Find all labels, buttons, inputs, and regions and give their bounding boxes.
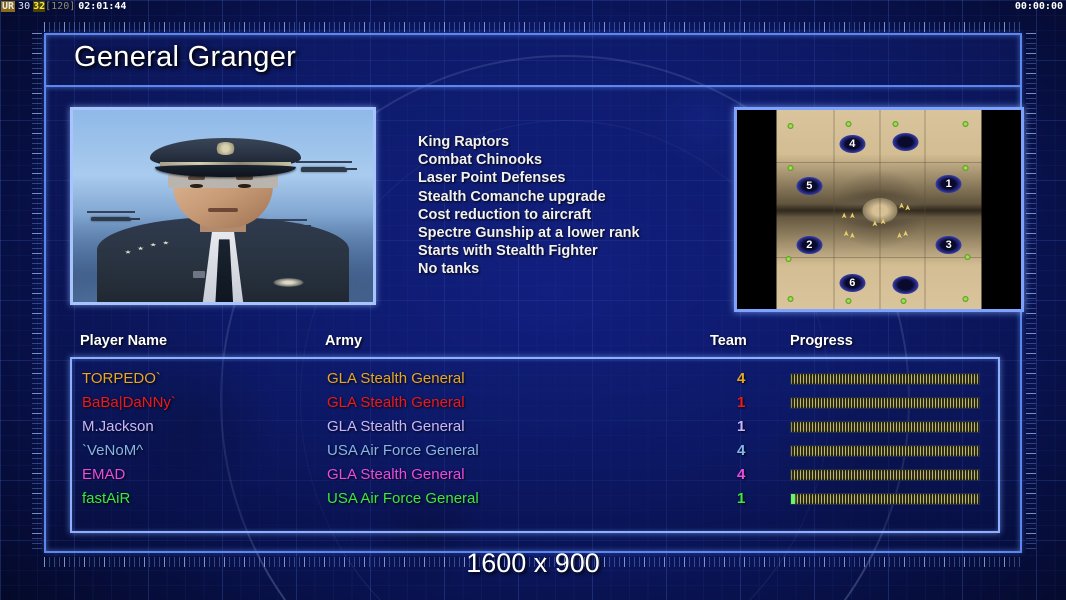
table-row: BaBa|DaNNy`GLA Stealth General1	[72, 391, 998, 415]
progress-fill	[791, 446, 979, 456]
players-table-header: Player Name Army Team Progress	[70, 333, 1000, 355]
player-name: BaBa|DaNNy`	[82, 391, 176, 415]
player-army: GLA Stealth General	[327, 367, 465, 391]
player-progress-bar	[790, 493, 980, 505]
ability-item: Stealth Comanche upgrade	[418, 188, 718, 206]
player-progress-bar	[790, 373, 980, 385]
table-row: M.JacksonGLA Stealth General1	[72, 415, 998, 439]
minimap-start-position[interactable]	[893, 276, 919, 294]
ruler-right	[1026, 33, 1036, 553]
player-team: 4	[737, 367, 745, 391]
player-team: 4	[737, 463, 745, 487]
table-row: `VeNoM^USA Air Force General4	[72, 439, 998, 463]
column-header-team: Team	[710, 333, 747, 349]
status-value-1: 30	[18, 1, 30, 12]
progress-fill	[791, 494, 979, 504]
minimap-start-position[interactable]: 2	[796, 236, 822, 254]
player-name: TORPEDO`	[82, 367, 161, 391]
table-row: fastAiRUSA Air Force General1	[72, 487, 998, 511]
column-header-progress: Progress	[790, 333, 853, 349]
minimap-tree-icon	[892, 121, 898, 127]
game-loading-screen: UR3032[120]02:01:44 00:00:00 General Gra…	[0, 0, 1066, 600]
main-panel: General Granger	[44, 33, 1022, 553]
minimap-preview: 451236	[734, 107, 1024, 312]
status-bar: UR3032[120]02:01:44 00:00:00	[0, 0, 1066, 14]
ability-item: No tanks	[418, 260, 718, 278]
progress-leading-marker	[791, 494, 795, 504]
player-name: `VeNoM^	[82, 439, 143, 463]
status-bar-left: UR3032[120]02:01:44	[1, 0, 126, 14]
general-abilities-list: King Raptors Combat Chinooks Laser Point…	[418, 133, 718, 279]
table-row: TORPEDO`GLA Stealth General4	[72, 367, 998, 391]
minimap-tree-icon	[964, 254, 970, 260]
player-team: 1	[737, 415, 745, 439]
minimap-start-position[interactable]: 4	[839, 135, 865, 153]
player-name: fastAiR	[82, 487, 130, 511]
minimap-tree-icon	[788, 165, 794, 171]
column-header-player-name: Player Name	[80, 333, 167, 349]
minimap-tree-icon	[845, 121, 851, 127]
minimap-tree-icon	[788, 123, 794, 129]
uniform-badge-icon	[193, 271, 206, 278]
minimap-start-position[interactable]: 3	[936, 236, 962, 254]
table-row: EMADGLA Stealth General4	[72, 463, 998, 487]
minimap-tree-icon	[788, 296, 794, 302]
player-army: GLA Stealth General	[327, 415, 465, 439]
player-progress-bar	[790, 397, 980, 409]
resolution-label: 1600 x 900	[0, 548, 1066, 579]
status-clock: 02:01:44	[78, 1, 126, 12]
minimap-tree-icon	[962, 165, 968, 171]
players-list: TORPEDO`GLA Stealth General4BaBa|DaNNy`G…	[70, 357, 1000, 533]
player-team: 1	[737, 391, 745, 415]
progress-fill	[791, 374, 979, 384]
minimap-terrain: 451236	[777, 110, 982, 309]
minimap-tree-icon	[786, 256, 792, 262]
progress-fill	[791, 398, 979, 408]
status-value-3: [120]	[45, 1, 75, 12]
players-panel: Player Name Army Team Progress TORPEDO`G…	[70, 333, 1000, 533]
ruler-left	[32, 33, 42, 553]
status-value-2: 32	[33, 1, 45, 12]
minimap-tree-icon	[962, 296, 968, 302]
minimap-tree-icon	[901, 298, 907, 304]
general-info-panel: King Raptors Combat Chinooks Laser Point…	[70, 107, 1000, 317]
minimap-tree-icon	[845, 298, 851, 304]
progress-fill	[791, 422, 979, 432]
player-team: 1	[737, 487, 745, 511]
general-figure	[97, 118, 349, 302]
ability-item: Spectre Gunship at a lower rank	[418, 224, 718, 242]
player-progress-bar	[790, 421, 980, 433]
player-team: 4	[737, 439, 745, 463]
ability-item: Combat Chinooks	[418, 151, 718, 169]
player-name: M.Jackson	[82, 415, 154, 439]
player-army: USA Air Force General	[327, 439, 479, 463]
general-portrait	[70, 107, 376, 305]
minimap-start-position[interactable]: 6	[839, 274, 865, 292]
cap-emblem-icon	[215, 142, 235, 155]
column-header-army: Army	[325, 333, 362, 349]
minimap-start-position[interactable]	[893, 133, 919, 151]
player-army: GLA Stealth General	[327, 391, 465, 415]
player-army: USA Air Force General	[327, 487, 479, 511]
page-title: General Granger	[74, 41, 296, 74]
player-name: EMAD	[82, 463, 125, 487]
title-block: General Granger	[46, 35, 1020, 87]
minimap-tree-icon	[962, 121, 968, 127]
ability-item: Starts with Stealth Fighter	[418, 242, 718, 260]
ability-item: Laser Point Defenses	[418, 169, 718, 187]
minimap-start-position[interactable]: 1	[936, 175, 962, 193]
player-progress-bar	[790, 469, 980, 481]
status-label: UR	[1, 1, 15, 12]
status-right-timer: 00:00:00	[1015, 0, 1063, 14]
minimap-start-position[interactable]: 5	[796, 177, 822, 195]
ruler-top	[44, 22, 1022, 32]
player-progress-bar	[790, 445, 980, 457]
ability-item: Cost reduction to aircraft	[418, 206, 718, 224]
player-army: GLA Stealth General	[327, 463, 465, 487]
progress-fill	[791, 470, 979, 480]
ability-item: King Raptors	[418, 133, 718, 151]
